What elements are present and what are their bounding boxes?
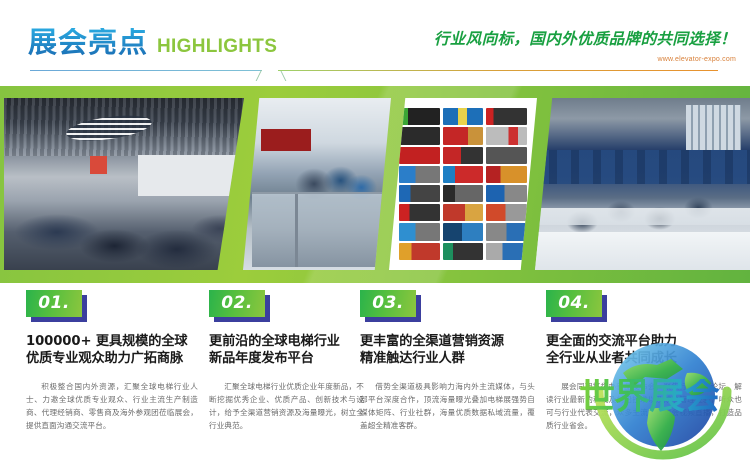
header-tagline-group: 行业风向标，国内外优质品牌的共同选择！ www.elevator-expo.co… — [434, 32, 736, 63]
conference-back-wall — [535, 150, 750, 184]
tagline: 行业风向标，国内外优质品牌的共同选择！ — [434, 32, 736, 48]
partner-logo — [443, 166, 483, 183]
feature-number-badge: 03. — [360, 290, 416, 320]
gallery-photo-media-partner-logo-wall[interactable] — [389, 98, 537, 270]
partner-logo — [486, 127, 526, 144]
partner-logo — [443, 223, 483, 240]
feature-column-04: 04. 更全面的交流平台助力 全行业从业者共同成长 展会同期将举办新品发布会、聚… — [546, 290, 742, 432]
gallery-photo-conference-audience[interactable] — [535, 98, 750, 270]
partner-logo — [399, 204, 439, 221]
partner-logo — [399, 185, 439, 202]
logo-grid — [399, 108, 526, 259]
partner-logo — [399, 166, 439, 183]
feature-body: 展会同期将举办新品发布会、聚焦行业热点论坛，解读行业最新的科技及前沿技术以及成熟… — [546, 380, 742, 432]
feature-body: 积极整合国内外资源，汇聚全球电梯行业人士、力邀全球优质专业观众、行业主流生产制造… — [26, 380, 198, 432]
gallery-photo-entrance-gates[interactable] — [243, 98, 391, 270]
feature-number: 01. — [38, 295, 70, 312]
partner-logo — [486, 147, 526, 164]
badge-face: 04. — [546, 290, 602, 317]
partner-logo — [486, 243, 526, 260]
highlights-page: 展会亮点 HIGHLIGHTS 行业风向标，国内外优质品牌的共同选择！ www.… — [0, 0, 750, 469]
feature-column-01: 01. 100000+ 更具规模的全球 优质专业观众助力广拓商脉 积极整合国内外… — [26, 290, 198, 432]
feature-title: 更丰富的全渠道营销资源 精准触达行业人群 — [360, 333, 535, 368]
audience-table-row-front — [535, 232, 750, 270]
partner-logo — [399, 127, 439, 144]
partner-logo — [486, 204, 526, 221]
website-url[interactable]: www.elevator-expo.com — [434, 56, 736, 63]
feature-title: 100000+ 更具规模的全球 优质专业观众助力广拓商脉 — [26, 333, 198, 368]
partner-logo — [399, 223, 439, 240]
feature-number: 02. — [221, 295, 253, 312]
badge-face: 01. — [26, 290, 82, 317]
header-divider — [0, 70, 750, 82]
badge-face: 02. — [209, 290, 265, 317]
feature-column-03: 03. 更丰富的全渠道营销资源 精准触达行业人群 借势全渠道极具影响力海内外主流… — [360, 290, 535, 432]
hall-window — [686, 105, 742, 150]
page-title-en: HIGHLIGHTS — [157, 37, 277, 56]
feature-column-02: 02. 更前沿的全球电梯行业 新品年度发布平台 汇聚全球电梯行业优质企业年度新品… — [209, 290, 364, 432]
feature-number-badge: 01. — [26, 290, 82, 320]
page-title: 展会亮点 — [28, 28, 148, 57]
exit-sign-icon — [90, 156, 107, 173]
badge-face: 03. — [360, 290, 416, 317]
booth-structure — [138, 155, 239, 196]
feature-number: 03. — [372, 295, 404, 312]
partner-logo — [399, 147, 439, 164]
partner-logo — [486, 166, 526, 183]
partner-logo — [486, 108, 526, 125]
feature-body: 借势全渠道极具影响力海内外主流媒体，与头部平台深度合作，顶流海量曝光叠加电梯展强… — [360, 380, 535, 432]
page-header: 展会亮点 HIGHLIGHTS 行业风向标，国内外优质品牌的共同选择！ www.… — [0, 0, 750, 82]
feature-number-badge: 04. — [546, 290, 602, 320]
header-title-group: 展会亮点 HIGHLIGHTS — [28, 28, 277, 57]
partner-logo — [486, 223, 526, 240]
feature-number-badge: 02. — [209, 290, 265, 320]
feature-number: 04. — [558, 295, 590, 312]
led-screen — [261, 129, 311, 151]
divider-right-segment — [278, 70, 718, 71]
divider-left-segment — [30, 70, 262, 71]
photo-gallery-strip — [0, 86, 750, 283]
partner-logo — [443, 147, 483, 164]
turnstile-gate — [252, 192, 382, 266]
partner-logo — [399, 243, 439, 260]
partner-logo — [443, 204, 483, 221]
partner-logo — [443, 185, 483, 202]
partner-logo — [399, 108, 439, 125]
partner-logo — [443, 127, 483, 144]
divider-notch-icon — [261, 70, 279, 81]
partner-logo — [486, 185, 526, 202]
feature-title: 更全面的交流平台助力 全行业从业者共同成长 — [546, 333, 742, 368]
audience-table-row-back — [535, 208, 750, 225]
feature-columns: 01. 100000+ 更具规模的全球 优质专业观众助力广拓商脉 积极整合国内外… — [0, 290, 750, 469]
partner-logo — [443, 108, 483, 125]
gallery-photo-exhibition-hall-crowd[interactable] — [4, 98, 244, 270]
partner-logo — [443, 243, 483, 260]
feature-title: 更前沿的全球电梯行业 新品年度发布平台 — [209, 333, 364, 368]
feature-body: 汇聚全球电梯行业优质企业年度新品，不断挖掘优秀企业、优质产品、创新技术与设计，给… — [209, 380, 364, 432]
